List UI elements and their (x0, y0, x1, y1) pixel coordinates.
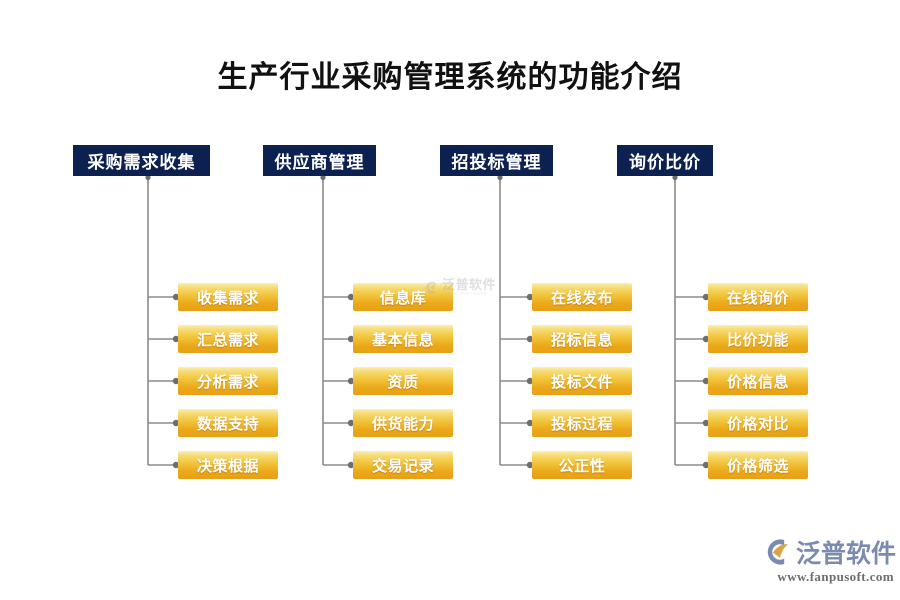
category-header-2[interactable]: 供应商管理 (263, 145, 376, 176)
feature-item[interactable]: 招标信息 (532, 325, 632, 353)
feature-item[interactable]: 比价功能 (708, 325, 808, 353)
feature-item[interactable]: 收集需求 (178, 283, 278, 311)
category-header-1[interactable]: 采购需求收集 (73, 145, 210, 176)
feature-item[interactable]: 决策根据 (178, 451, 278, 479)
category-header-3[interactable]: 招投标管理 (440, 145, 553, 176)
feature-item[interactable]: 价格信息 (708, 367, 808, 395)
feature-item[interactable]: 在线发布 (532, 283, 632, 311)
brand-logo: 泛普软件 www.fanpusoft.com (762, 536, 894, 588)
feature-item[interactable]: 基本信息 (353, 325, 453, 353)
feature-item[interactable]: 投标过程 (532, 409, 632, 437)
feature-item[interactable]: 在线询价 (708, 283, 808, 311)
feature-item[interactable]: 汇总需求 (178, 325, 278, 353)
feature-item[interactable]: 分析需求 (178, 367, 278, 395)
feature-item[interactable]: 资质 (353, 367, 453, 395)
feature-item[interactable]: 供货能力 (353, 409, 453, 437)
feature-item[interactable]: 价格筛选 (708, 451, 808, 479)
page-title: 生产行业采购管理系统的功能介绍 (0, 52, 900, 96)
feature-item[interactable]: 投标文件 (532, 367, 632, 395)
category-header-4[interactable]: 询价比价 (617, 145, 713, 176)
feature-item[interactable]: 数据支持 (178, 409, 278, 437)
brand-url: www.fanpusoft.com (762, 569, 894, 585)
feature-item[interactable]: 信息库 (353, 283, 453, 311)
feature-item[interactable]: 交易记录 (353, 451, 453, 479)
brand-logo-icon (762, 537, 792, 567)
diagram-canvas: 生产行业采购管理系统的功能介绍 采购需求收集收集需求汇总需求分析需求数据支持决策… (0, 0, 900, 600)
feature-item[interactable]: 公正性 (532, 451, 632, 479)
brand-name: 泛普软件 (796, 534, 896, 570)
feature-item[interactable]: 价格对比 (708, 409, 808, 437)
